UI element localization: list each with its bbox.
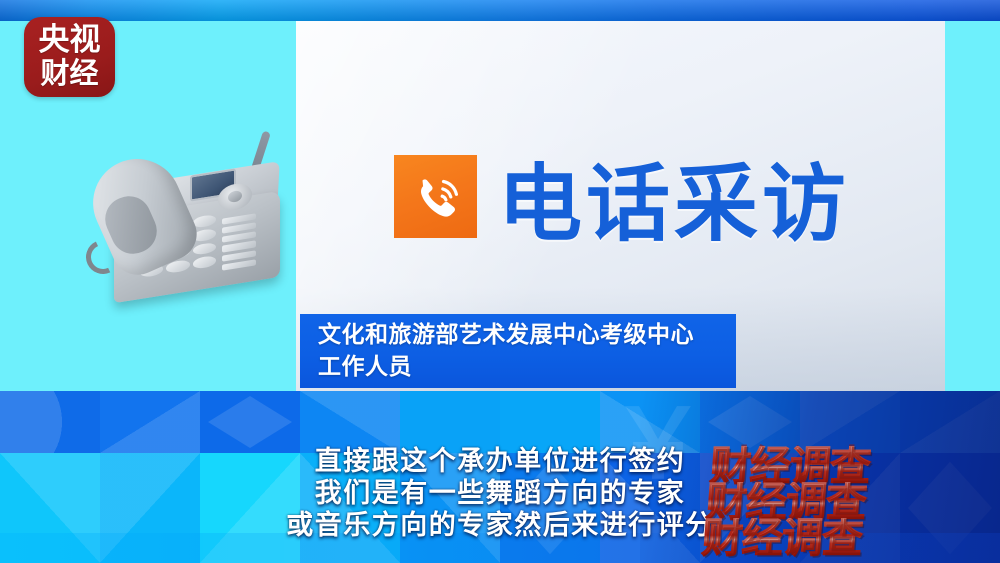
desk-telephone-image — [72, 112, 302, 312]
logo-line-1: 央视 — [39, 24, 101, 57]
top-band-shade — [0, 0, 1000, 21]
interviewee-caption-box: 文化和旅游部艺术发展中心考级中心 工作人员 — [300, 314, 736, 388]
phone-key — [193, 241, 216, 255]
page-title: 电话采访 — [498, 143, 850, 251]
phone-function-keys — [222, 213, 256, 270]
mosaic-tile — [100, 391, 200, 453]
mosaic-tile — [400, 391, 500, 453]
watermark-text-3: 财经调查 — [701, 518, 864, 559]
program-watermark: 财经调查 财经调查 财经调查 — [700, 444, 1000, 563]
cctv-finance-logo: 央视 财经 — [24, 17, 115, 97]
phone-key — [193, 214, 216, 228]
mosaic-tile — [0, 391, 100, 453]
broadcast-frame: 电话采访 文化和旅游部艺术发展中心考级中心 工作人员 — [0, 0, 1000, 563]
mosaic-tile — [300, 391, 400, 453]
caption-line-1: 文化和旅游部艺术发展中心考级中心 — [318, 319, 736, 351]
mosaic-tile — [200, 391, 300, 453]
logo-line-2: 财经 — [40, 57, 98, 90]
top-blue-band — [0, 0, 1000, 21]
mosaic-tile — [500, 391, 600, 453]
phone-call-icon — [394, 155, 477, 238]
caption-line-2: 工作人员 — [318, 351, 736, 383]
